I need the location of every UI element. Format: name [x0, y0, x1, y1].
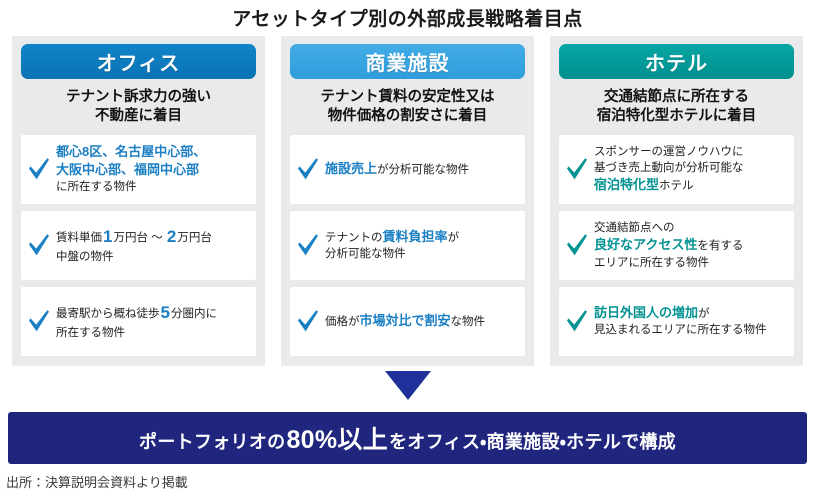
- column-tab-commercial[interactable]: 商業施設: [290, 44, 525, 79]
- triangle-down-icon: [385, 371, 431, 400]
- body-text: をオフィス・商業施設・ホテルで構成: [389, 432, 676, 452]
- banner-emphasis: 80%以上: [285, 426, 389, 454]
- highlight-text: 福岡中心部: [134, 162, 199, 177]
- body-text: エリアに所在する物件: [594, 257, 709, 269]
- asset-type-columns: オフィステナント訴求力の強い不動産に着目都心8区、名古屋中心部、大阪中心部、福岡…: [12, 36, 803, 366]
- column-subtitle: テナント訴求力の強い不動産に着目: [21, 88, 256, 127]
- body-text: ホテル: [659, 180, 694, 192]
- criteria-card-text: 訪日外国人の増加が見込まれるエリアに所在する物件: [594, 304, 767, 339]
- criteria-card-text: 最寄駅から概ね徒歩5分圏内に所在する物件: [56, 301, 217, 341]
- criteria-card: 訪日外国人の増加が見込まれるエリアに所在する物件: [559, 287, 794, 356]
- criteria-card-text: 賃料単価1万円台 ～ 2万円台中盤の物件: [56, 225, 212, 265]
- body-text: 基づき売上動向が分析可能な: [594, 162, 744, 174]
- criteria-card: 都心8区、名古屋中心部、大阪中心部、福岡中心部に所在する物件: [21, 135, 256, 204]
- summary-banner-text: ポートフォリオの80%以上をオフィス・商業施設・ホテルで構成: [139, 420, 676, 456]
- body-text: な物件: [451, 316, 486, 328]
- highlight-text: 訪日外国人の増加: [594, 305, 698, 320]
- criteria-card: 賃料単価1万円台 ～ 2万円台中盤の物件: [21, 211, 256, 280]
- column-tab-label: ホテル: [645, 47, 708, 76]
- highlight-text: 名古屋中心部: [115, 144, 193, 159]
- criteria-card-text: テナントの賃料負担率が分析可能な物件: [325, 228, 459, 263]
- column-subtitle-line1: 交通結節点に所在する: [559, 88, 794, 107]
- page-title: アセットタイプ別の外部成長戦略着目点: [0, 4, 815, 31]
- body-text: 見込まれるエリアに所在する物件: [594, 324, 767, 336]
- criteria-card: 交通結節点への良好なアクセス性を有するエリアに所在する物件: [559, 211, 794, 280]
- column-card-list: 都心8区、名古屋中心部、大阪中心部、福岡中心部に所在する物件賃料単価1万円台 ～…: [21, 135, 256, 356]
- column-subtitle-line2: 宿泊特化型ホテルに着目: [559, 107, 794, 126]
- body-text: が: [448, 232, 460, 244]
- criteria-card: 施設売上が分析可能な物件: [290, 135, 525, 204]
- body-text: 分析可能な物件: [325, 248, 406, 260]
- asset-column-commercial: 商業施設テナント賃料の安定性又は物件価格の割安さに着目施設売上が分析可能な物件テ…: [281, 36, 534, 366]
- column-subtitle: 交通結節点に所在する宿泊特化型ホテルに着目: [559, 88, 794, 127]
- highlight-text: 大阪中心部: [56, 162, 121, 177]
- highlight-text: 、: [193, 144, 206, 159]
- check-icon: [564, 307, 590, 335]
- body-text: スポンサーの運営ノウハウに: [594, 146, 744, 158]
- column-tab-label: 商業施設: [366, 47, 450, 76]
- check-icon: [295, 231, 321, 259]
- column-subtitle-line2: 不動産に着目: [21, 107, 256, 126]
- body-text: が: [698, 308, 710, 320]
- column-card-list: 施設売上が分析可能な物件テナントの賃料負担率が分析可能な物件価格が市場対比で割安…: [290, 135, 525, 356]
- body-text: 所在する物件: [56, 327, 125, 339]
- body-text: を有する: [697, 240, 743, 252]
- criteria-card-text: 交通結節点への良好なアクセス性を有するエリアに所在する物件: [594, 220, 743, 271]
- body-text: 中盤の物件: [56, 251, 114, 263]
- criteria-card: 価格が市場対比で割安な物件: [290, 287, 525, 356]
- column-tab-label: オフィス: [97, 47, 181, 76]
- summary-banner: ポートフォリオの80%以上をオフィス・商業施設・ホテルで構成: [8, 412, 807, 464]
- check-icon: [26, 307, 52, 335]
- body-text: が分析可能な物件: [377, 164, 469, 176]
- column-tab-hotel[interactable]: ホテル: [559, 44, 794, 79]
- column-subtitle: テナント賃料の安定性又は物件価格の割安さに着目: [290, 88, 525, 127]
- highlight-number: 2: [166, 227, 177, 246]
- body-text: 万円台: [177, 232, 212, 244]
- body-text: ポートフォリオの: [139, 432, 285, 452]
- highlight-text: 良好なアクセス性: [594, 237, 697, 252]
- asset-column-hotel: ホテル交通結節点に所在する宿泊特化型ホテルに着目スポンサーの運営ノウハウに基づき…: [550, 36, 803, 366]
- check-icon: [564, 231, 590, 259]
- highlight-text: 市場対比で割安: [360, 313, 451, 328]
- criteria-card-text: スポンサーの運営ノウハウに基づき売上動向が分析可能な宿泊特化型ホテル: [594, 144, 744, 195]
- body-text: テナントの: [325, 232, 383, 244]
- column-subtitle-line1: テナント賃料の安定性又は: [290, 88, 525, 107]
- criteria-card: 最寄駅から概ね徒歩5分圏内に所在する物件: [21, 287, 256, 356]
- source-note: 出所：決算説明会資料より掲載: [6, 472, 188, 491]
- column-subtitle-line2: 物件価格の割安さに着目: [290, 107, 525, 126]
- check-icon: [26, 231, 52, 259]
- highlight-text: 施設売上: [325, 161, 377, 176]
- body-text: 最寄駅から概ね徒歩: [56, 308, 160, 320]
- criteria-card-text: 都心8区、名古屋中心部、大阪中心部、福岡中心部に所在する物件: [56, 143, 206, 196]
- highlight-text: 、: [121, 162, 134, 177]
- body-text: 交通結節点への: [594, 222, 675, 234]
- body-text: 万円台 ～: [113, 232, 165, 244]
- body-text: 賃料単価: [56, 232, 102, 244]
- check-icon: [26, 155, 52, 183]
- highlight-text: 宿泊特化型: [594, 177, 659, 192]
- highlight-number: 1: [102, 227, 113, 246]
- criteria-card-text: 価格が市場対比で割安な物件: [325, 312, 485, 330]
- criteria-card: テナントの賃料負担率が分析可能な物件: [290, 211, 525, 280]
- check-icon: [295, 307, 321, 335]
- column-card-list: スポンサーの運営ノウハウに基づき売上動向が分析可能な宿泊特化型ホテル交通結節点へ…: [559, 135, 794, 356]
- column-tab-office[interactable]: オフィス: [21, 44, 256, 79]
- criteria-card: スポンサーの運営ノウハウに基づき売上動向が分析可能な宿泊特化型ホテル: [559, 135, 794, 204]
- asset-column-office: オフィステナント訴求力の強い不動産に着目都心8区、名古屋中心部、大阪中心部、福岡…: [12, 36, 265, 366]
- flow-arrow: [0, 371, 815, 407]
- highlight-number: 5: [160, 303, 171, 322]
- body-text: 分圏内に: [171, 308, 217, 320]
- highlight-text: 賃料負担率: [383, 229, 448, 244]
- body-text: 価格が: [325, 316, 360, 328]
- criteria-card-text: 施設売上が分析可能な物件: [325, 160, 469, 178]
- body-text: に所在する物件: [56, 181, 137, 193]
- column-subtitle-line1: テナント訴求力の強い: [21, 88, 256, 107]
- highlight-text: 都心8区: [56, 144, 102, 159]
- check-icon: [564, 155, 590, 183]
- check-icon: [295, 155, 321, 183]
- highlight-text: 、: [102, 144, 115, 159]
